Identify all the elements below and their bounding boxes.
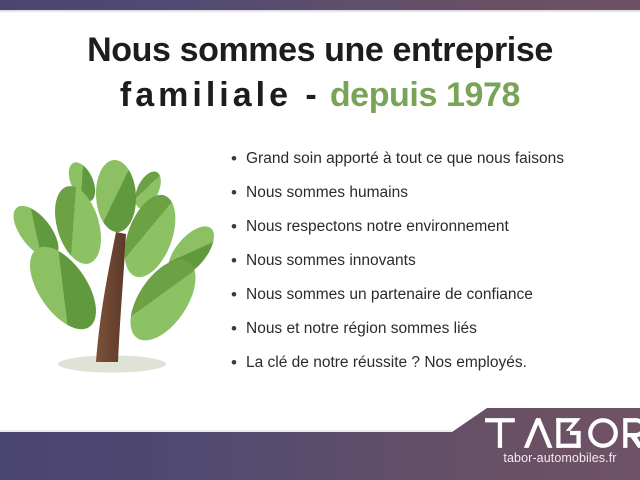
list-item-label: Nous sommes innovants: [246, 250, 416, 272]
bullet-marker-icon: •: [231, 148, 246, 170]
presentation-slide: Nous sommes une entreprise familiale - d…: [0, 0, 640, 480]
bullet-marker-icon: •: [231, 318, 246, 340]
list-item-label: Nous sommes humains: [246, 182, 408, 204]
list-item-label: La clé de notre réussite ? Nos employés.: [246, 352, 527, 374]
benefits-list: • Grand soin apporté à tout ce que nous …: [231, 148, 631, 386]
tabor-wordmark-icon: [484, 416, 640, 450]
list-item: • Grand soin apporté à tout ce que nous …: [231, 148, 631, 182]
bullet-marker-icon: •: [231, 182, 246, 204]
logo-tagline: tabor-automobiles.fr: [484, 451, 636, 465]
tree-trunk: [96, 232, 126, 362]
list-item-label: Grand soin apporté à tout ce que nous fa…: [246, 148, 564, 170]
footer-bar-highlight: [0, 430, 452, 432]
bullet-marker-icon: •: [231, 352, 246, 374]
list-item-label: Nous respectons notre environnement: [246, 216, 509, 238]
tree-illustration: [8, 148, 220, 386]
top-accent-bar-shadow: [0, 10, 640, 13]
bullet-marker-icon: •: [231, 250, 246, 272]
bullet-marker-icon: •: [231, 284, 246, 306]
tree-illustration-svg: [8, 148, 220, 386]
list-item: • Nous respectons notre environnement: [231, 216, 631, 250]
headline-line-2-accent: depuis 1978: [330, 76, 520, 114]
bullet-marker-icon: •: [231, 216, 246, 238]
headline-line-2: familiale - depuis 1978: [20, 73, 620, 118]
top-accent-bar: [0, 0, 640, 10]
list-item-label: Nous sommes un partenaire de confiance: [246, 284, 533, 306]
list-item: • Nous sommes innovants: [231, 250, 631, 284]
headline-line-1: Nous sommes une entreprise: [20, 28, 620, 73]
list-item: • Nous sommes un partenaire de confiance: [231, 284, 631, 318]
list-item: • La clé de notre réussite ? Nos employé…: [231, 352, 631, 386]
footer-brand-bar: tabor-automobiles.fr: [0, 404, 640, 480]
list-item: • Nous sommes humains: [231, 182, 631, 216]
slide-headline: Nous sommes une entreprise familiale - d…: [20, 28, 620, 118]
tabor-logo[interactable]: tabor-automobiles.fr: [484, 416, 636, 465]
headline-line-2-plain: familiale -: [120, 76, 321, 114]
list-item: • Nous et notre région sommes liés: [231, 318, 631, 352]
list-item-label: Nous et notre région sommes liés: [246, 318, 477, 340]
